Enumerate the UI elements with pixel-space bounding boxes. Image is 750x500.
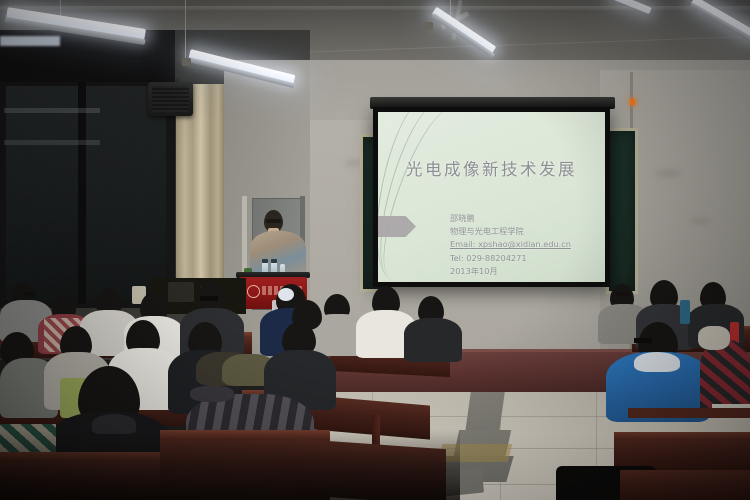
- window-reflection: [0, 36, 60, 46]
- foreground-shadow: [0, 430, 460, 500]
- projected-slide: 光电成像新技术发展 邵晓鹏 物理与光电工程学院 Email: xpshao@xi…: [378, 112, 605, 282]
- university-emblem-icon: [247, 285, 260, 298]
- window-glass: [86, 86, 166, 300]
- student-glasses: [200, 296, 218, 301]
- bottle-cap: [271, 259, 277, 263]
- aisle-mat: [465, 392, 505, 432]
- lamp-mount: [424, 22, 433, 30]
- bottle-cap: [262, 259, 268, 263]
- wall-mark: [690, 218, 710, 224]
- student-glasses: [24, 292, 36, 296]
- student-glasses: [616, 292, 630, 296]
- hoodie-collar: [634, 352, 680, 372]
- slide-tel: Tel: 029-88204271: [450, 252, 600, 265]
- lamp-wire: [185, 0, 186, 62]
- lamp-mount: [182, 58, 191, 66]
- student-head: [292, 300, 322, 330]
- slide-date: 2013年10月: [450, 265, 600, 278]
- bench-row-foreground: [620, 470, 750, 500]
- slide-email: Email: xpshao@xidian.edu.cn: [450, 238, 600, 251]
- chalkboard-right: [606, 128, 638, 294]
- window-blind-slat: [4, 140, 100, 145]
- slide-title: 光电成像新技术发展: [378, 156, 605, 180]
- presenter-glasses: [266, 219, 281, 223]
- av-equipment: [168, 282, 194, 302]
- backpack-handle: [190, 386, 234, 402]
- hoodie-cap-logo: [278, 288, 294, 301]
- bench-edge: [628, 408, 750, 418]
- screen-indicator-led: [630, 99, 635, 105]
- thermos-bottle: [680, 300, 690, 324]
- student-glasses: [634, 338, 652, 343]
- slide-presenter: 邵晓鹏: [450, 212, 600, 225]
- speaker-grille: [152, 86, 189, 112]
- fur-collar: [698, 326, 730, 350]
- student-body: [404, 318, 462, 362]
- window-mullion: [78, 82, 86, 304]
- window-blind-slat: [4, 108, 100, 113]
- wall-mark: [655, 170, 681, 177]
- slide-body-text: 邵晓鹏 物理与光电工程学院 Email: xpshao@xidian.edu.c…: [450, 212, 600, 278]
- lecture-hall-photo: 光电成像新技术发展 邵晓鹏 物理与光电工程学院 Email: xpshao@xi…: [0, 0, 750, 500]
- slide-affiliation: 物理与光电工程学院: [450, 225, 600, 238]
- window-glass: [6, 86, 78, 300]
- bench-backrest: [614, 432, 750, 440]
- window-curtain: [176, 84, 224, 309]
